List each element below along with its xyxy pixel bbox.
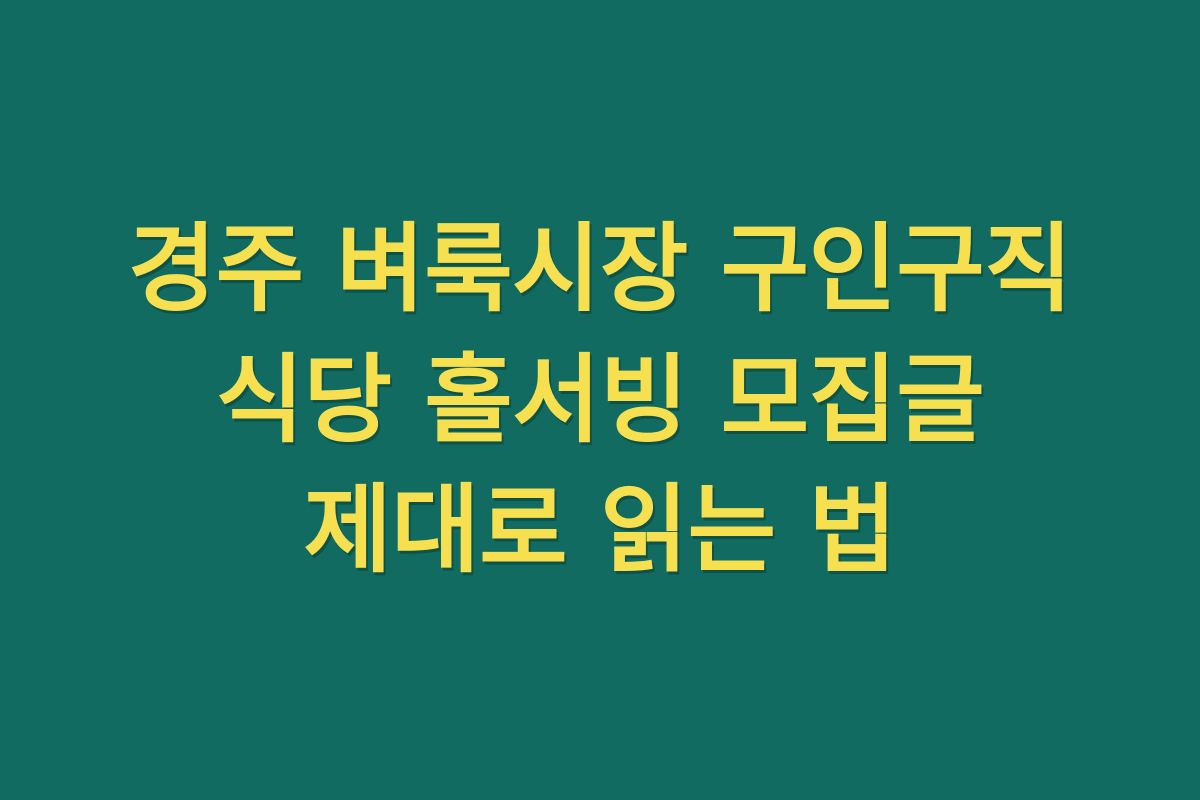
thumbnail-card: 경주 벼룩시장 구인구직 식당 홀서빙 모집글 제대로 읽는 법 — [0, 0, 1200, 800]
page-title: 경주 벼룩시장 구인구직 식당 홀서빙 모집글 제대로 읽는 법 — [85, 204, 1115, 596]
